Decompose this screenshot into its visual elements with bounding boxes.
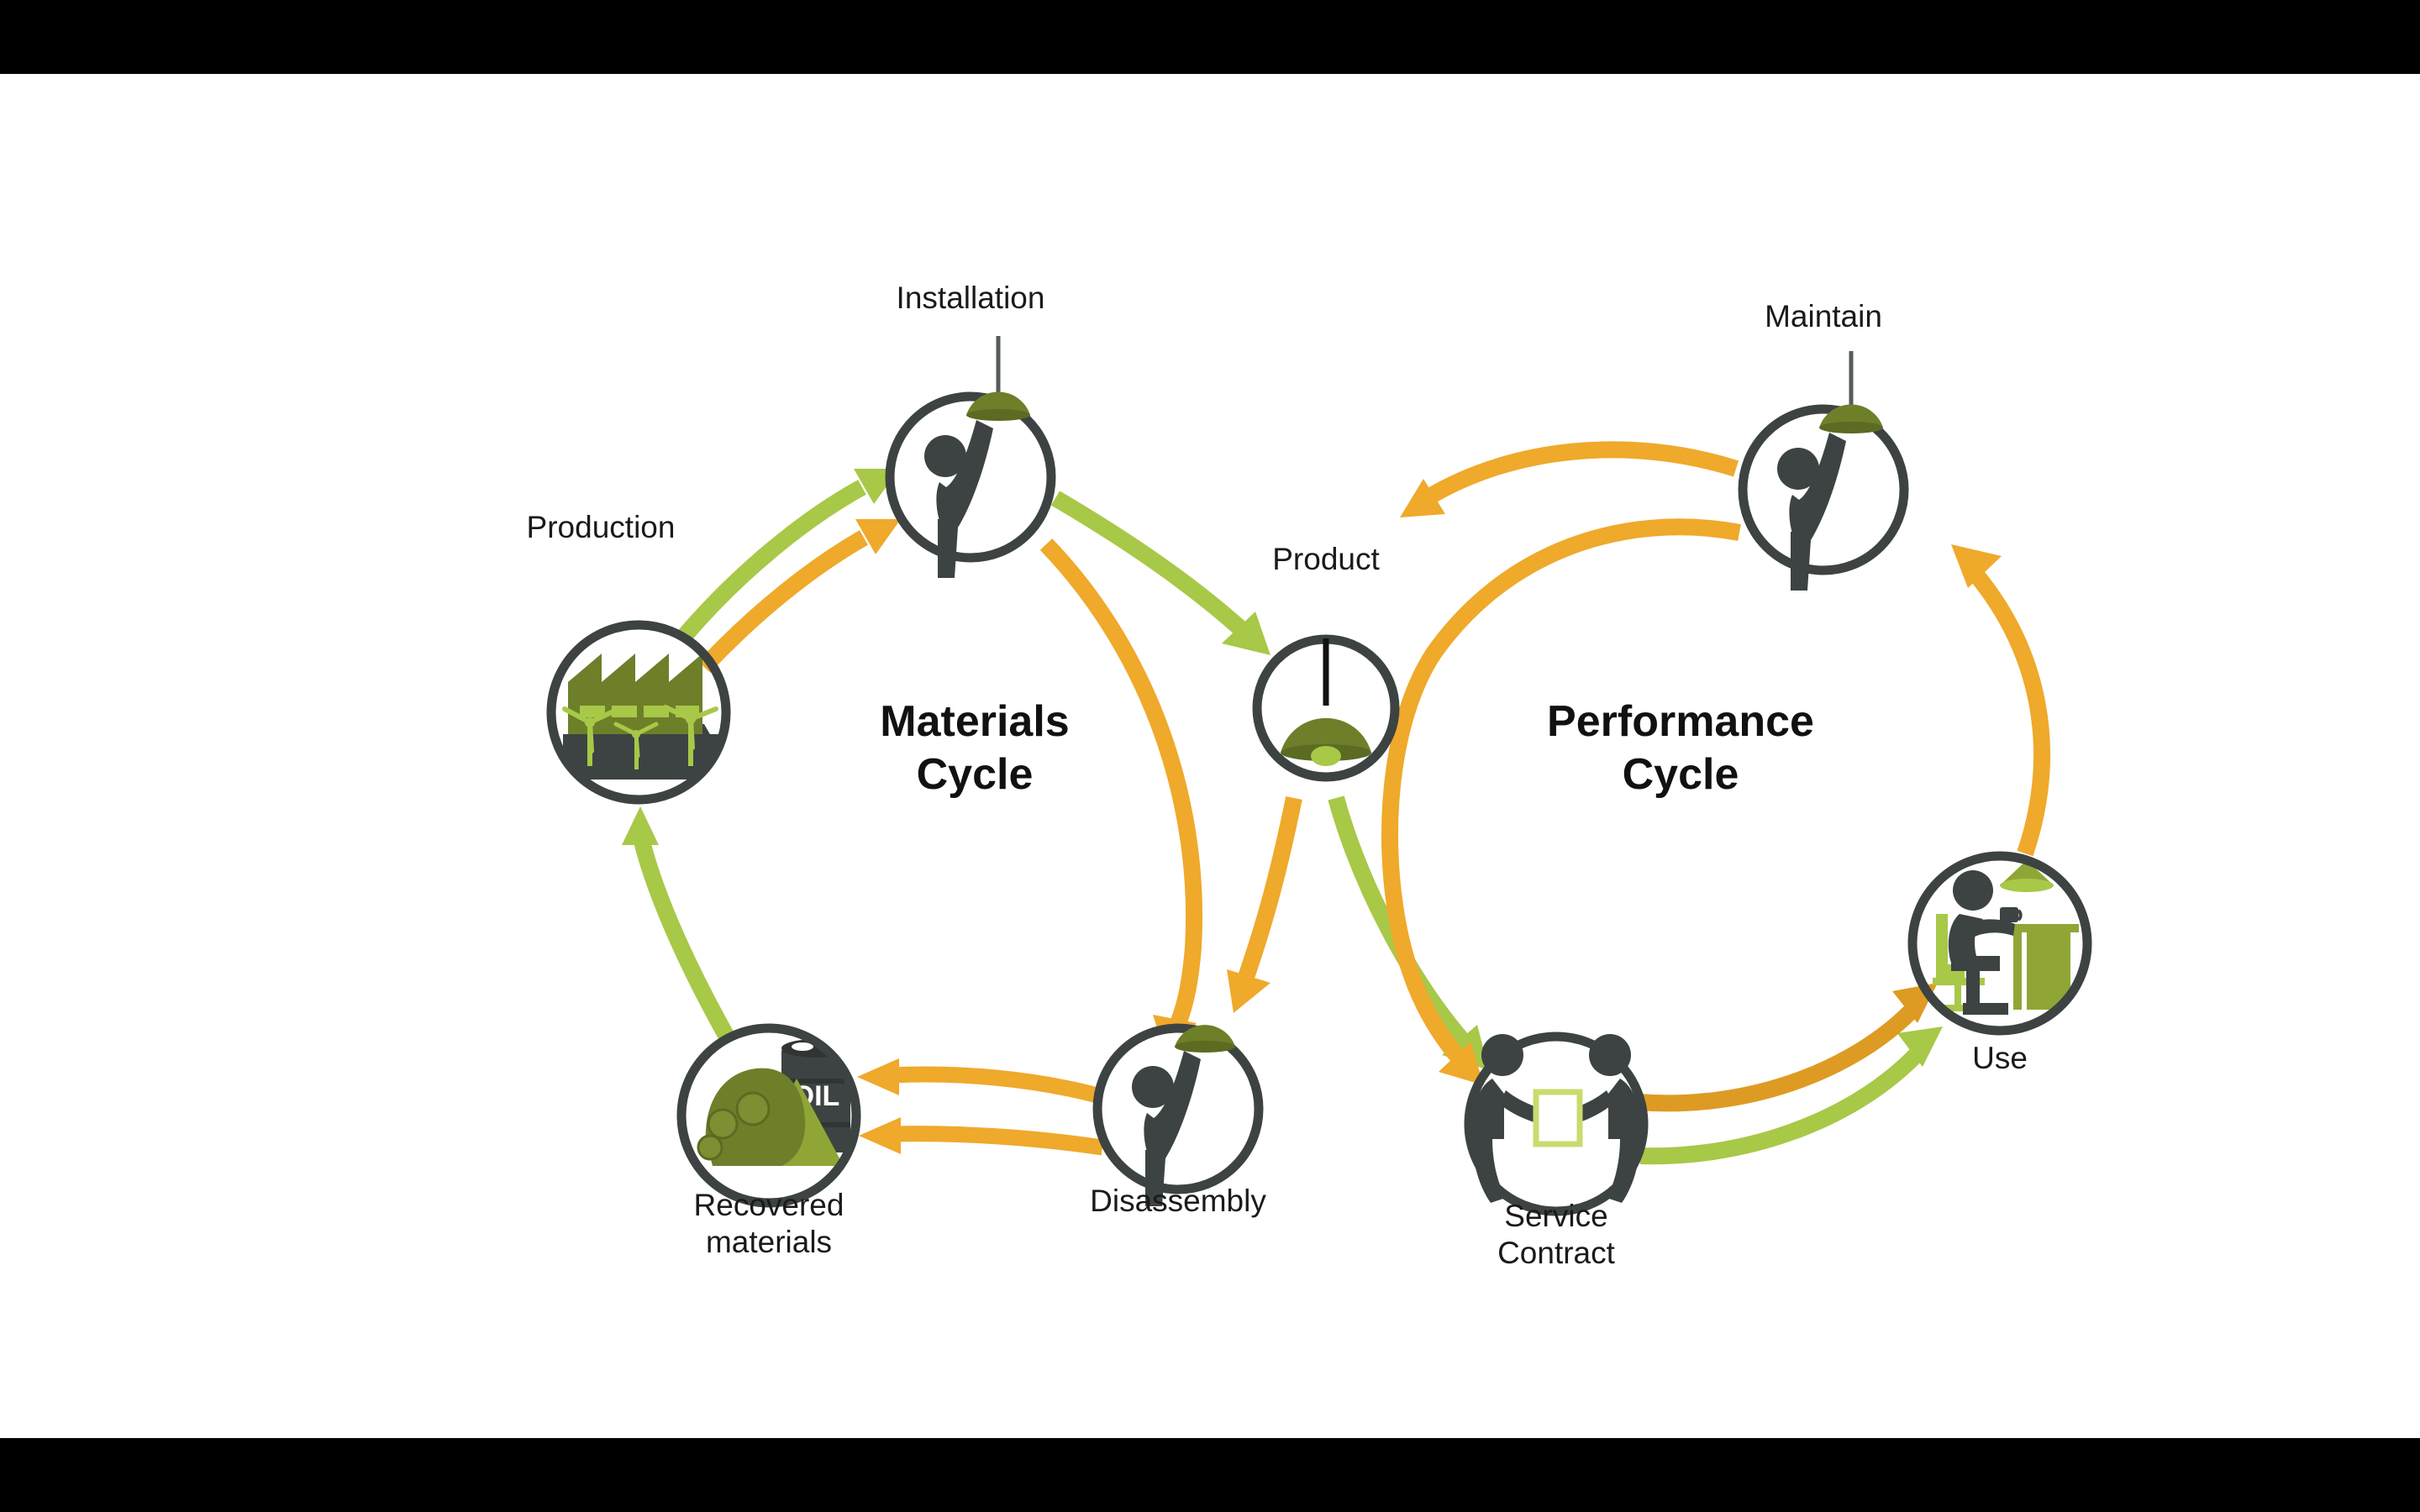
flow-disassembly-to-recovered-lower	[859, 1117, 1102, 1154]
diagram-canvas: OIL Materials Cycle Performance Cycle Pr…	[0, 74, 2420, 1438]
label-use: Use	[1972, 1040, 2028, 1077]
cycle-title-performance: Performance Cycle	[1547, 696, 1814, 802]
materials-barrel-icon: OIL	[698, 1039, 850, 1166]
label-recovered-materials: Recovered materials	[694, 1187, 844, 1260]
flow-disassembly-to-recovered-upper	[857, 1058, 1097, 1095]
flow-product-to-service-green	[1336, 798, 1489, 1070]
node-recovered-materials[interactable]: OIL	[681, 1028, 856, 1203]
node-maintain[interactable]	[1743, 351, 1904, 591]
node-service-contract[interactable]	[1469, 1034, 1644, 1211]
node-product[interactable]	[1257, 638, 1395, 777]
flow-recovered-to-production	[622, 806, 728, 1038]
flow-use-to-maintain-orange	[1951, 544, 2042, 853]
label-product: Product	[1272, 541, 1380, 578]
label-service-contract: Service Contract	[1497, 1198, 1615, 1271]
flow-maintain-to-product-orange-upper	[1400, 449, 1736, 517]
circular-economy-diagram: OIL	[0, 74, 2420, 1438]
flow-production-to-installation-green	[682, 469, 899, 638]
label-maintain: Maintain	[1765, 298, 1882, 335]
handshake-icon	[1471, 1034, 1641, 1203]
flow-installation-to-product-green	[1055, 498, 1270, 655]
label-installation: Installation	[897, 280, 1045, 317]
flow-product-to-disassembly-orange	[1227, 798, 1294, 1013]
cycle-title-materials: Materials Cycle	[880, 696, 1069, 802]
node-installation[interactable]	[890, 336, 1051, 578]
node-disassembly[interactable]	[1097, 1025, 1259, 1206]
label-disassembly: Disassembly	[1090, 1183, 1266, 1220]
label-production: Production	[527, 509, 676, 546]
node-use[interactable]	[1912, 830, 2087, 1031]
screenshot-stage: OIL Materials Cycle Performance Cycle Pr…	[0, 0, 2420, 1512]
